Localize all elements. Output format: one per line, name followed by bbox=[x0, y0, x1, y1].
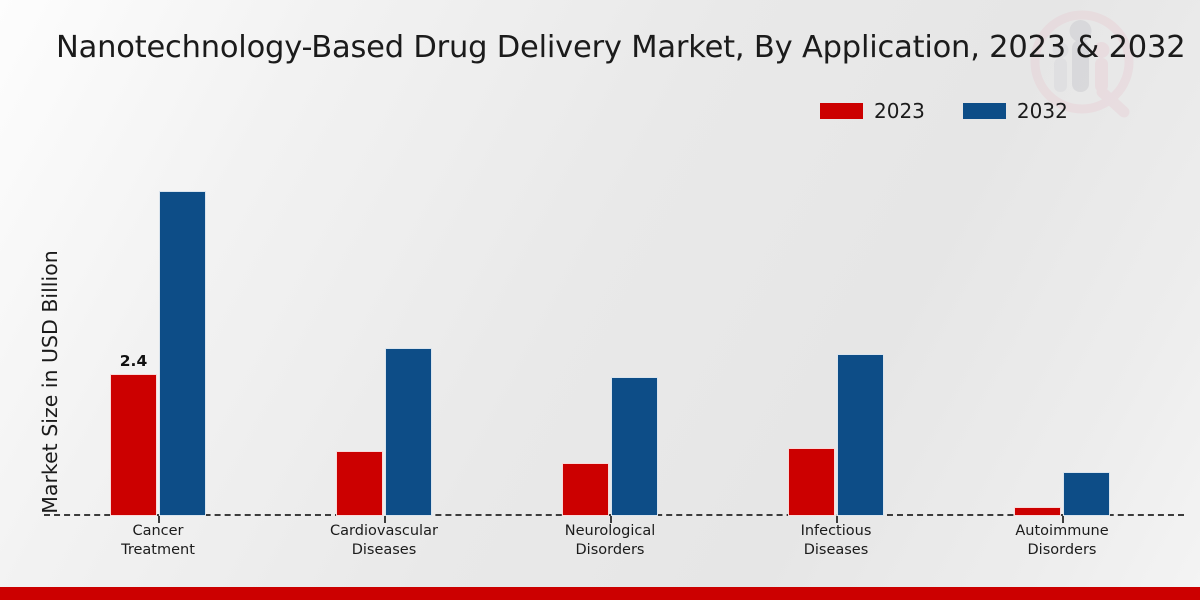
x-category-label-0-line2: Treatment bbox=[80, 541, 236, 560]
x-category-label-3: Infectious Diseases bbox=[758, 522, 914, 560]
x-category-label-0: Cancer Treatment bbox=[80, 522, 236, 560]
bar-1-2023[interactable] bbox=[336, 451, 383, 516]
x-category-label-0-line1: Cancer bbox=[80, 522, 236, 541]
plot-area: 2.4 Cancer Treatment Cardiovascular Dise… bbox=[44, 150, 1184, 516]
bar-3-2032[interactable] bbox=[837, 354, 884, 516]
bar-4-2023[interactable] bbox=[1014, 507, 1061, 516]
bottom-accent-band bbox=[0, 587, 1200, 600]
chart-canvas: Nanotechnology-Based Drug Delivery Marke… bbox=[0, 0, 1200, 600]
x-category-label-2-line2: Disorders bbox=[532, 541, 688, 560]
bar-2-2023[interactable] bbox=[562, 463, 609, 516]
x-category-label-2: Neurological Disorders bbox=[532, 522, 688, 560]
x-category-label-4-line1: Autoimmune bbox=[984, 522, 1140, 541]
bar-2-2032[interactable] bbox=[611, 377, 658, 516]
legend-label-2023: 2023 bbox=[874, 101, 925, 121]
x-category-label-4-line2: Disorders bbox=[984, 541, 1140, 560]
chart-legend: 2023 2032 bbox=[820, 101, 1068, 121]
legend-swatch-2032 bbox=[963, 103, 1006, 119]
legend-item-2032[interactable]: 2032 bbox=[963, 101, 1068, 121]
x-category-label-2-line1: Neurological bbox=[532, 522, 688, 541]
bar-1-2032[interactable] bbox=[385, 348, 432, 516]
x-category-label-1-line1: Cardiovascular bbox=[306, 522, 462, 541]
x-category-label-3-line2: Diseases bbox=[758, 541, 914, 560]
legend-item-2023[interactable]: 2023 bbox=[820, 101, 925, 121]
legend-swatch-2023 bbox=[820, 103, 863, 119]
bar-4-2032[interactable] bbox=[1063, 472, 1110, 516]
bar-0-2032[interactable] bbox=[159, 191, 206, 516]
bar-value-0-2023: 2.4 bbox=[110, 352, 157, 370]
legend-label-2032: 2032 bbox=[1017, 101, 1068, 121]
x-category-label-1: Cardiovascular Diseases bbox=[306, 522, 462, 560]
x-category-label-3-line1: Infectious bbox=[758, 522, 914, 541]
x-category-label-4: Autoimmune Disorders bbox=[984, 522, 1140, 560]
chart-title: Nanotechnology-Based Drug Delivery Marke… bbox=[56, 30, 1176, 65]
x-category-label-1-line2: Diseases bbox=[306, 541, 462, 560]
bar-0-2023[interactable] bbox=[110, 374, 157, 516]
bar-3-2023[interactable] bbox=[788, 448, 835, 516]
